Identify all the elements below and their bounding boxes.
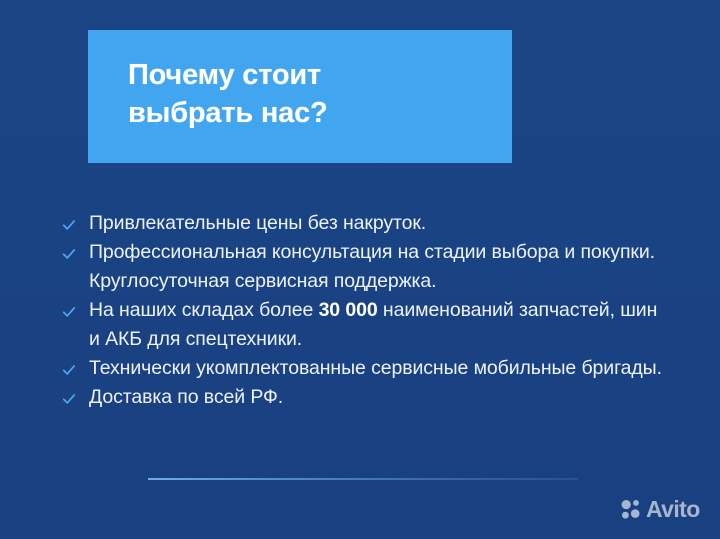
list-item: Профессиональная консультация на стадии … bbox=[62, 238, 662, 296]
list-item-label: Профессиональная консультация на стадии … bbox=[89, 238, 662, 296]
list-item: Технически укомплектованные сервисные мо… bbox=[62, 354, 662, 383]
avito-watermark: Avito bbox=[620, 497, 700, 521]
list-item-label: Технически укомплектованные сервисные мо… bbox=[89, 354, 662, 383]
avito-wordmark: Avito bbox=[646, 497, 700, 521]
list-item-label: На наших складах более 30 000 наименован… bbox=[89, 296, 662, 354]
page-title: Почему стоит выбрать нас? bbox=[128, 56, 512, 132]
benefits-list: Привлекательные цены без накруток.Профес… bbox=[62, 209, 662, 412]
list-item-label: Доставка по всей РФ. bbox=[89, 383, 662, 412]
slide-canvas: Почему стоит выбрать нас? Привлекательны… bbox=[0, 0, 720, 539]
list-item-label: Привлекательные цены без накруток. bbox=[89, 209, 662, 238]
avito-dots-icon bbox=[620, 497, 644, 521]
check-icon bbox=[62, 383, 80, 412]
title-banner: Почему стоит выбрать нас? bbox=[88, 30, 512, 163]
list-item: На наших складах более 30 000 наименован… bbox=[62, 296, 662, 354]
list-item: Привлекательные цены без накруток. bbox=[62, 209, 662, 238]
check-icon bbox=[62, 354, 80, 383]
divider-line bbox=[148, 478, 578, 480]
list-item: Доставка по всей РФ. bbox=[62, 383, 662, 412]
check-icon bbox=[62, 296, 80, 325]
check-icon bbox=[62, 238, 80, 267]
check-icon bbox=[62, 209, 80, 238]
